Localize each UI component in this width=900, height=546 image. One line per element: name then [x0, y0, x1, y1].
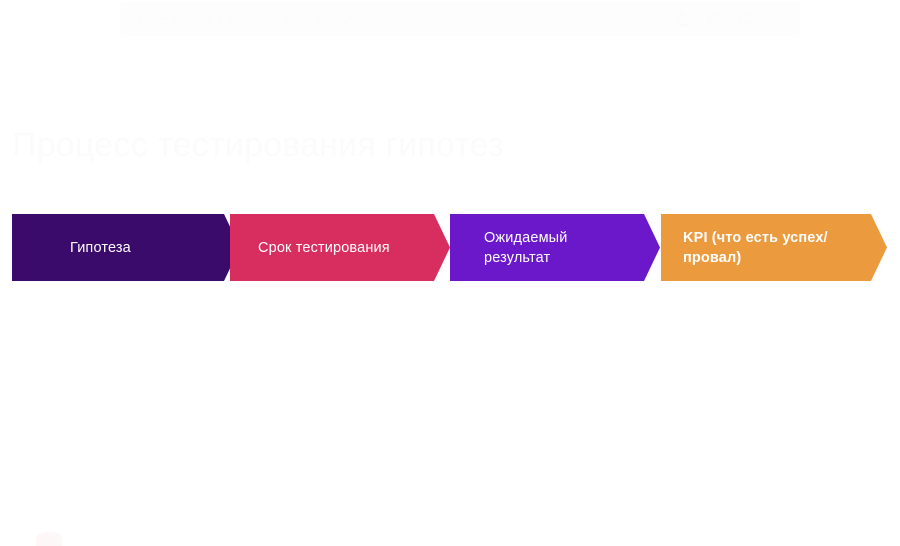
flow-step-3[interactable]: Ожидаемый результат [450, 214, 660, 281]
share-icon[interactable] [674, 11, 690, 27]
page-corner-artifact [36, 532, 62, 546]
flow-step-2-label: Срок тестирования [258, 238, 390, 258]
flow-step-1-label: Гипотеза [70, 238, 131, 258]
process-flow-diagram: Гипотеза Срок тестирования Ожидаемый рез… [0, 214, 900, 284]
flow-step-2[interactable]: Срок тестирования [230, 214, 450, 281]
cloud-icon [314, 11, 330, 27]
check-icon [340, 11, 356, 27]
pdf-viewer-toolbar: E-Promo x Skolkovo.pdf [120, 2, 800, 36]
flow-step-3-label: Ожидаемый результат [484, 228, 568, 268]
flow-step-1[interactable]: Гипотеза [12, 214, 240, 281]
chevron-left-icon[interactable] [134, 11, 150, 27]
pdf-file-title: E-Promo x Skolkovo.pdf [160, 12, 304, 27]
slide-canvas: Процесс тестирования гипотез Гипотеза Ср… [0, 40, 900, 506]
present-icon[interactable] [738, 11, 754, 27]
page-title: Процесс тестирования гипотез [12, 126, 504, 165]
flow-step-4[interactable]: KPI (что есть успех/ провал) [661, 214, 887, 281]
toolbar-actions [674, 11, 786, 27]
flow-step-4-label: KPI (что есть успех/ провал) [683, 228, 828, 268]
comment-icon[interactable] [706, 11, 722, 27]
more-icon[interactable] [770, 11, 786, 27]
